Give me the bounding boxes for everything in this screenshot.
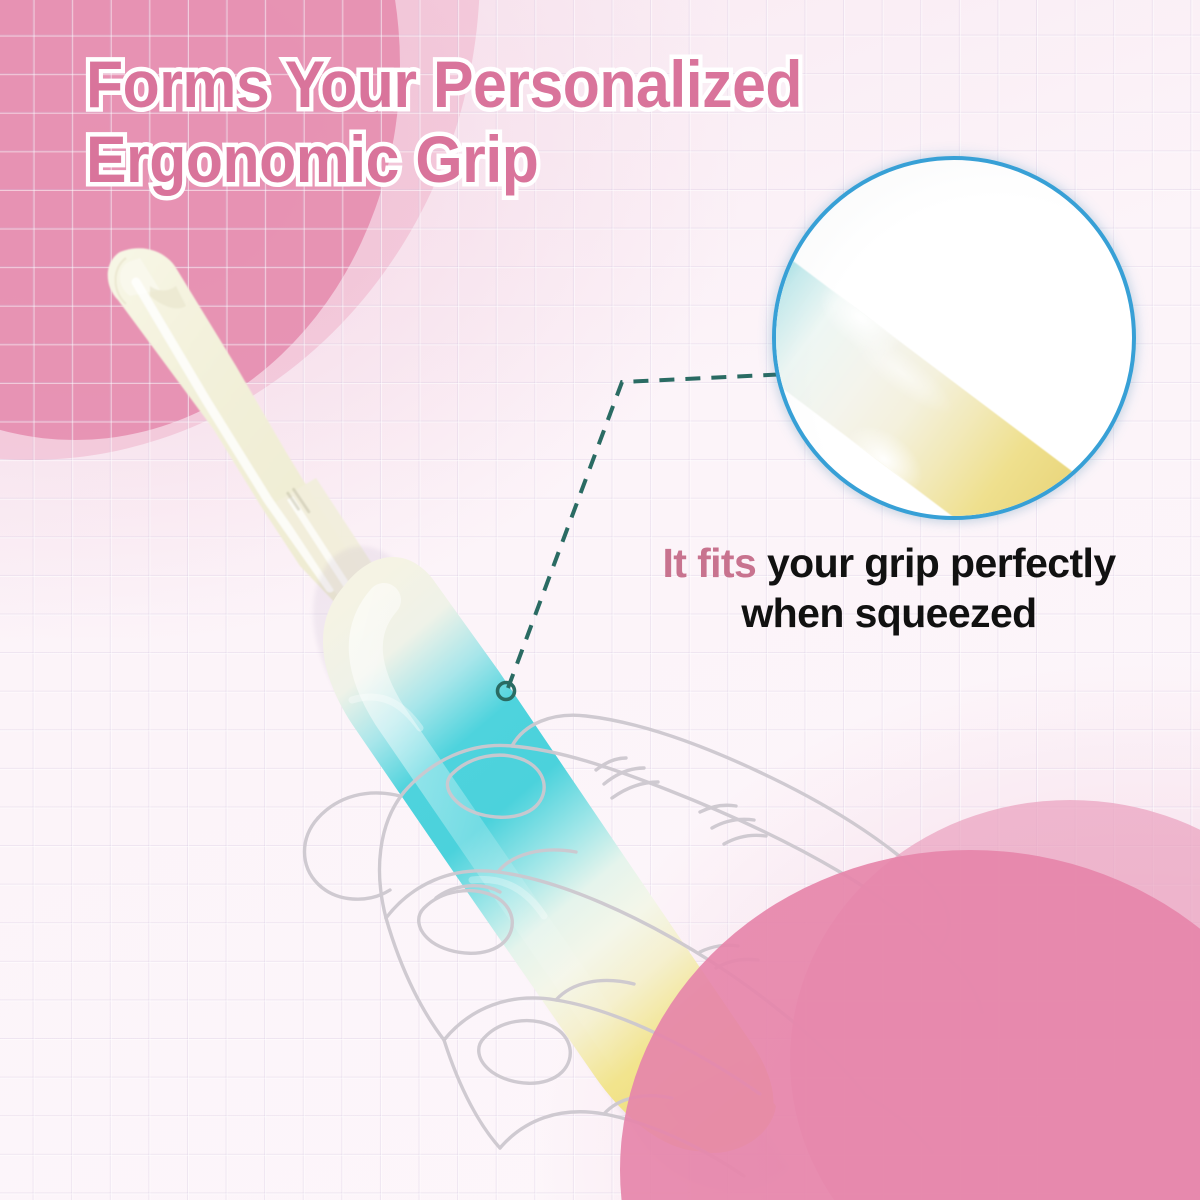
magnifier-inner-shadow xyxy=(776,160,1132,516)
magnifier-inset xyxy=(772,156,1136,520)
caption-rest: your grip perfectly xyxy=(756,540,1115,586)
caption-line-2: when squeezed xyxy=(741,590,1036,636)
caption-accent: It fits xyxy=(662,540,756,586)
feature-caption: It fits your grip perfectly when squeeze… xyxy=(596,538,1182,638)
infographic-canvas: Forms Your Personalized Ergonomic Grip I… xyxy=(0,0,1200,1200)
